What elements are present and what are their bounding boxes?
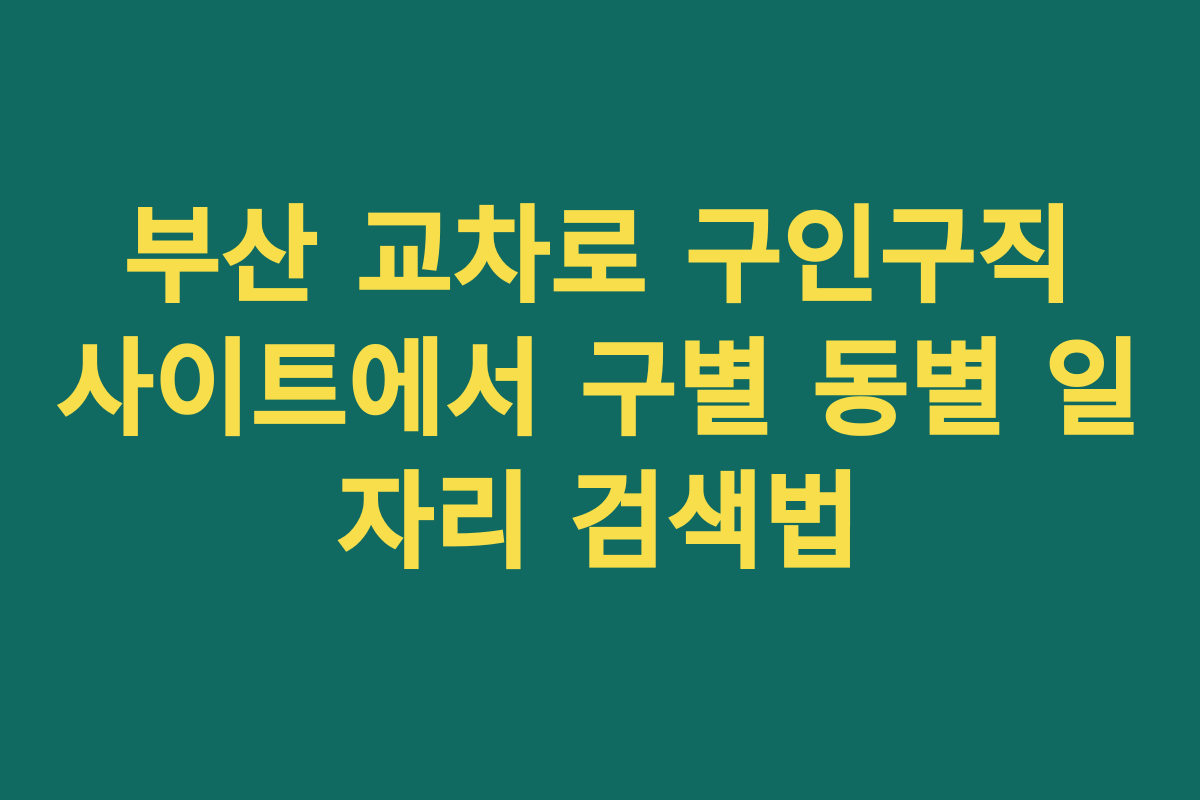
title-line-3: 자리 검색법 (0, 456, 1200, 589)
title-line-1: 부산 교차로 구인구직 (0, 190, 1200, 323)
page-title: 부산 교차로 구인구직 사이트에서 구별 동별 일 자리 검색법 (0, 190, 1200, 589)
title-line-2: 사이트에서 구별 동별 일 (0, 323, 1200, 456)
title-card-banner: 부산 교차로 구인구직 사이트에서 구별 동별 일 자리 검색법 (0, 0, 1200, 800)
